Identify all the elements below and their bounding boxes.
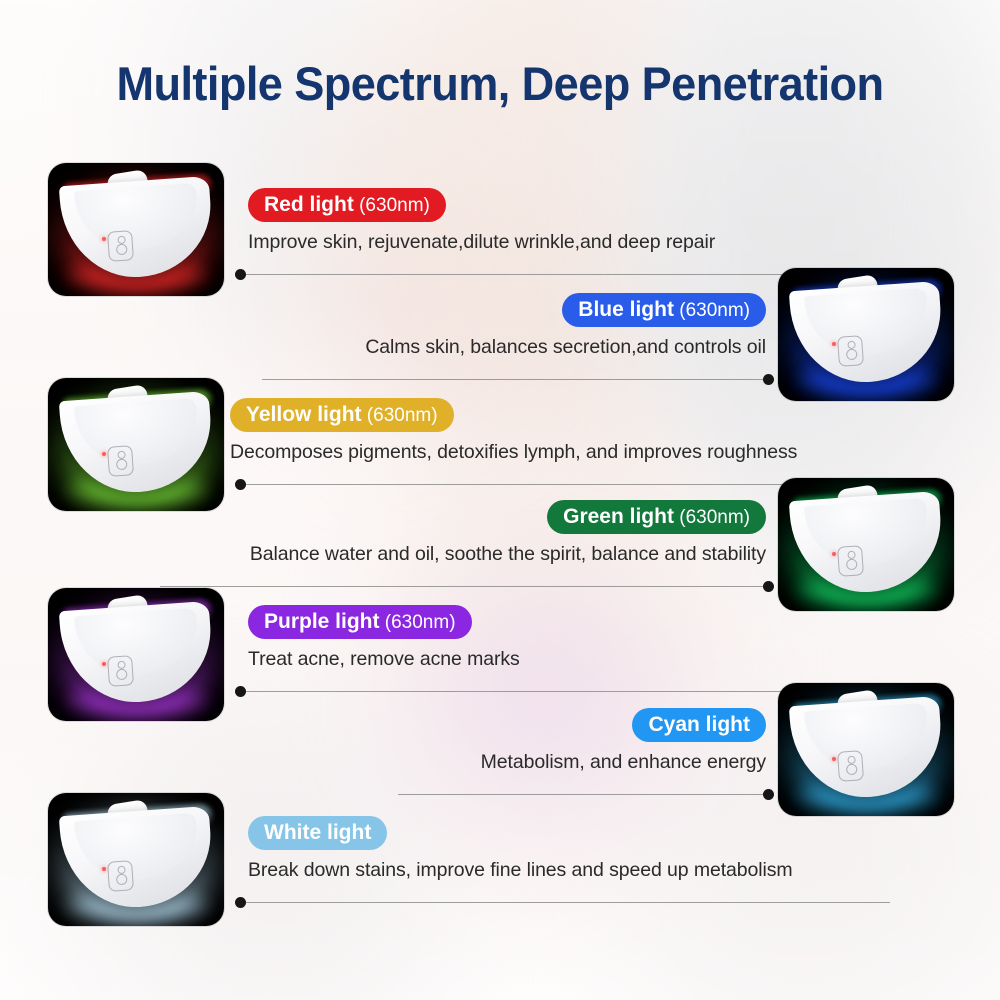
connector-dot (763, 374, 774, 385)
badge-label: Cyan light (648, 713, 750, 736)
spectrum-row-green: Green light (630nm)Balance water and oil… (164, 500, 766, 566)
spectrum-row-purple: Purple light (630nm)Treat acne, remove a… (248, 605, 786, 671)
connector-dot (235, 479, 246, 490)
status-led-icon (832, 757, 836, 761)
connector-line (240, 691, 790, 692)
description-cyan: Metabolism, and enhance energy (402, 751, 766, 774)
badge-label: Red light (264, 193, 354, 216)
connector-line (262, 379, 768, 380)
page-title: Multiple Spectrum, Deep Penetration (20, 56, 980, 111)
status-led-icon (102, 452, 106, 456)
badge-cyan[interactable]: Cyan light (632, 708, 766, 742)
connector-line (398, 794, 768, 795)
badge-label: Blue light (578, 298, 674, 321)
badge-wavelength: (630nm) (674, 507, 750, 528)
badge-label: Purple light (264, 610, 380, 633)
connector-white (0, 896, 1000, 908)
status-led-icon (102, 867, 106, 871)
description-white: Break down stains, improve fine lines an… (248, 859, 886, 882)
product-tile-yellow (48, 378, 224, 511)
status-led-icon (832, 342, 836, 346)
connector-dot (763, 581, 774, 592)
led-device-shell (62, 811, 212, 909)
badge-blue[interactable]: Blue light (630nm) (562, 293, 766, 327)
brand-logo-icon (837, 545, 864, 577)
brand-logo-icon (107, 445, 134, 477)
brand-logo-icon (837, 335, 864, 367)
badge-purple[interactable]: Purple light (630nm) (248, 605, 472, 639)
brand-logo-icon (107, 230, 134, 262)
badge-wavelength: (630nm) (674, 300, 750, 321)
description-purple: Treat acne, remove acne marks (248, 648, 786, 671)
brand-logo-icon (107, 860, 134, 892)
description-blue: Calms skin, balances secretion,and contr… (286, 336, 766, 359)
connector-line (240, 274, 790, 275)
status-led-icon (832, 552, 836, 556)
brand-logo-icon (107, 655, 134, 687)
badge-white[interactable]: White light (248, 816, 387, 850)
description-green: Balance water and oil, soothe the spirit… (164, 543, 766, 566)
connector-line (160, 586, 768, 587)
product-tile-purple (48, 588, 224, 721)
connector-dot (235, 897, 246, 908)
spectrum-row-red: Red light (630nm)Improve skin, rejuvenat… (248, 188, 786, 254)
badge-label: Green light (563, 505, 674, 528)
infographic-canvas: Multiple Spectrum, Deep Penetration Red … (0, 0, 1000, 1000)
spectrum-row-cyan: Cyan lightMetabolism, and enhance energy (402, 708, 766, 774)
description-red: Improve skin, rejuvenate,dilute wrinkle,… (248, 231, 786, 254)
connector-dot (763, 789, 774, 800)
badge-red[interactable]: Red light (630nm) (248, 188, 446, 222)
spectrum-row-yellow: Yellow light (630nm)Decomposes pigments,… (230, 398, 902, 464)
led-device-shell (792, 701, 942, 799)
badge-wavelength: (630nm) (354, 195, 430, 216)
description-yellow: Decomposes pigments, detoxifies lymph, a… (230, 441, 902, 464)
brand-logo-icon (837, 750, 864, 782)
badge-wavelength: (630nm) (380, 612, 456, 633)
badge-label: White light (264, 821, 371, 844)
badge-green[interactable]: Green light (630nm) (547, 500, 766, 534)
led-device-shell (792, 286, 942, 384)
badge-yellow[interactable]: Yellow light (630nm) (230, 398, 454, 432)
led-device-shell (62, 181, 212, 279)
status-led-icon (102, 237, 106, 241)
connector-dot (235, 686, 246, 697)
spectrum-row-blue: Blue light (630nm)Calms skin, balances s… (286, 293, 766, 359)
connector-dot (235, 269, 246, 280)
status-led-icon (102, 662, 106, 666)
spectrum-row-white: White lightBreak down stains, improve fi… (248, 816, 886, 882)
connector-line (240, 902, 890, 903)
badge-wavelength: (630nm) (362, 405, 438, 426)
badge-label: Yellow light (246, 403, 362, 426)
